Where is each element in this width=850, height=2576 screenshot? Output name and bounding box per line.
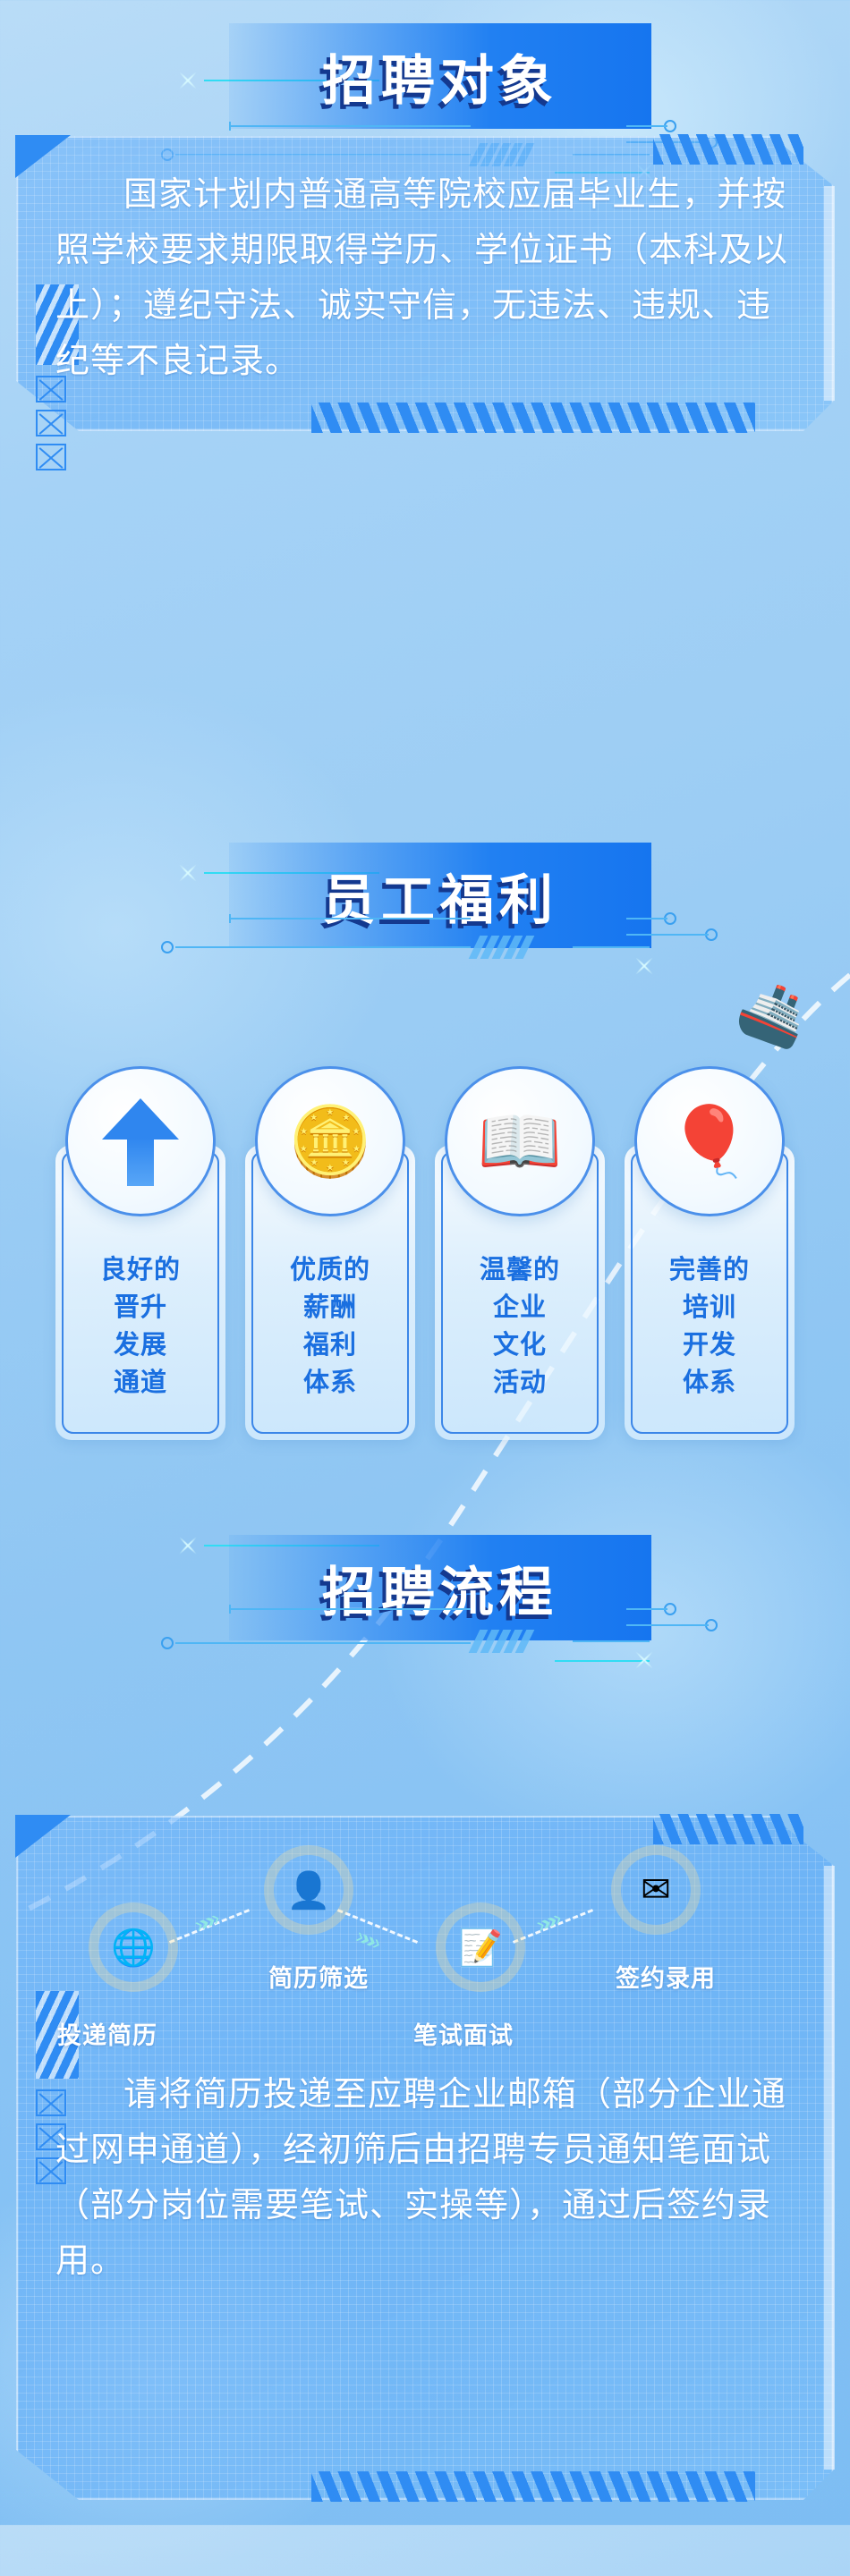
- ship-icon: 🚢: [730, 970, 818, 1055]
- section-header-recruitment-process: 招聘流程: [0, 1512, 850, 1646]
- decor-line: [626, 1608, 667, 1610]
- decor-line: [229, 1608, 471, 1610]
- section-title: 招聘流程: [229, 1535, 651, 1640]
- benefit-card-list: 良好的晋升发展通道 🪙 优质的薪酬福利体系 📖 温馨的企业文化活动 🎈 完善的培…: [0, 1055, 850, 1449]
- section-title: 员工福利: [229, 843, 651, 948]
- document-pen-icon[interactable]: 📝: [446, 1912, 515, 1982]
- process-step-label: 笔试面试: [413, 2016, 514, 2051]
- panel-recruitment-target: 国家计划内普通高等院校应届毕业生，并按照学校要求期限取得学历、学位证书（本科及以…: [16, 136, 834, 431]
- decor-dot: [161, 1637, 174, 1649]
- decor-line: [626, 934, 709, 936]
- person-tie-icon[interactable]: 👤: [274, 1855, 344, 1925]
- decor-line: [229, 918, 471, 919]
- chevron-decor: [474, 1630, 529, 1653]
- process-step-label: 投递简历: [57, 2016, 157, 2051]
- chevron-right-icon: »»»: [191, 1908, 219, 1938]
- panel-xbox: [36, 444, 66, 470]
- panel-hatch-bottom: [311, 402, 755, 433]
- globe-cursor-icon[interactable]: 🌐: [98, 1912, 168, 1982]
- panel-hatch-bottom: [311, 2471, 755, 2502]
- up-arrow-icon: [65, 1066, 216, 1216]
- open-book-icon: 📖: [445, 1066, 595, 1216]
- decor-line: [626, 125, 667, 127]
- decor-line: [175, 946, 471, 948]
- section-title: 招聘对象: [229, 23, 651, 129]
- process-step-label: 签约录用: [616, 1959, 716, 1994]
- envelope-icon[interactable]: ✉: [621, 1855, 691, 1925]
- benefit-card[interactable]: 📖 温馨的企业文化活动: [435, 1145, 605, 1440]
- section-header-employee-benefits: 员工福利: [0, 819, 850, 953]
- panel-text: 国家计划内普通高等院校应届毕业生，并按照学校要求期限取得学历、学位证书（本科及以…: [16, 136, 834, 388]
- gold-coin-icon: 🪙: [255, 1066, 405, 1216]
- benefit-label: 温馨的企业文化活动: [435, 1250, 605, 1401]
- chevron-decor: [474, 936, 529, 959]
- sparkle-icon: [619, 941, 670, 992]
- chevron-right-icon: »»»: [353, 1924, 380, 1954]
- sparkle-icon: [619, 1635, 670, 1686]
- panel-xbox: [36, 410, 66, 436]
- decor-dot: [161, 941, 174, 953]
- decor-line: [626, 1624, 709, 1626]
- decor-line: [626, 918, 667, 919]
- benefit-card[interactable]: 良好的晋升发展通道: [55, 1145, 225, 1440]
- process-step-label: 简历筛选: [268, 1959, 369, 1994]
- process-flow: »»» »»» »»» 🌐 投递简历 👤 简历筛选 📝 笔试面试 ✉ 签约录用: [0, 1869, 850, 2048]
- decor-line: [229, 125, 471, 127]
- balloons-icon: 🎈: [634, 1066, 785, 1216]
- benefit-label: 良好的晋升发展通道: [55, 1250, 225, 1401]
- decor-line: [175, 1642, 471, 1644]
- flow-connector: [337, 1909, 418, 1944]
- benefit-card[interactable]: 🪙 优质的薪酬福利体系: [245, 1145, 415, 1440]
- benefit-label: 优质的薪酬福利体系: [245, 1250, 415, 1401]
- section-header-recruitment-target: 招聘对象: [0, 0, 850, 134]
- benefit-card[interactable]: 🎈 完善的培训开发体系: [625, 1145, 795, 1440]
- benefit-label: 完善的培训开发体系: [625, 1250, 795, 1401]
